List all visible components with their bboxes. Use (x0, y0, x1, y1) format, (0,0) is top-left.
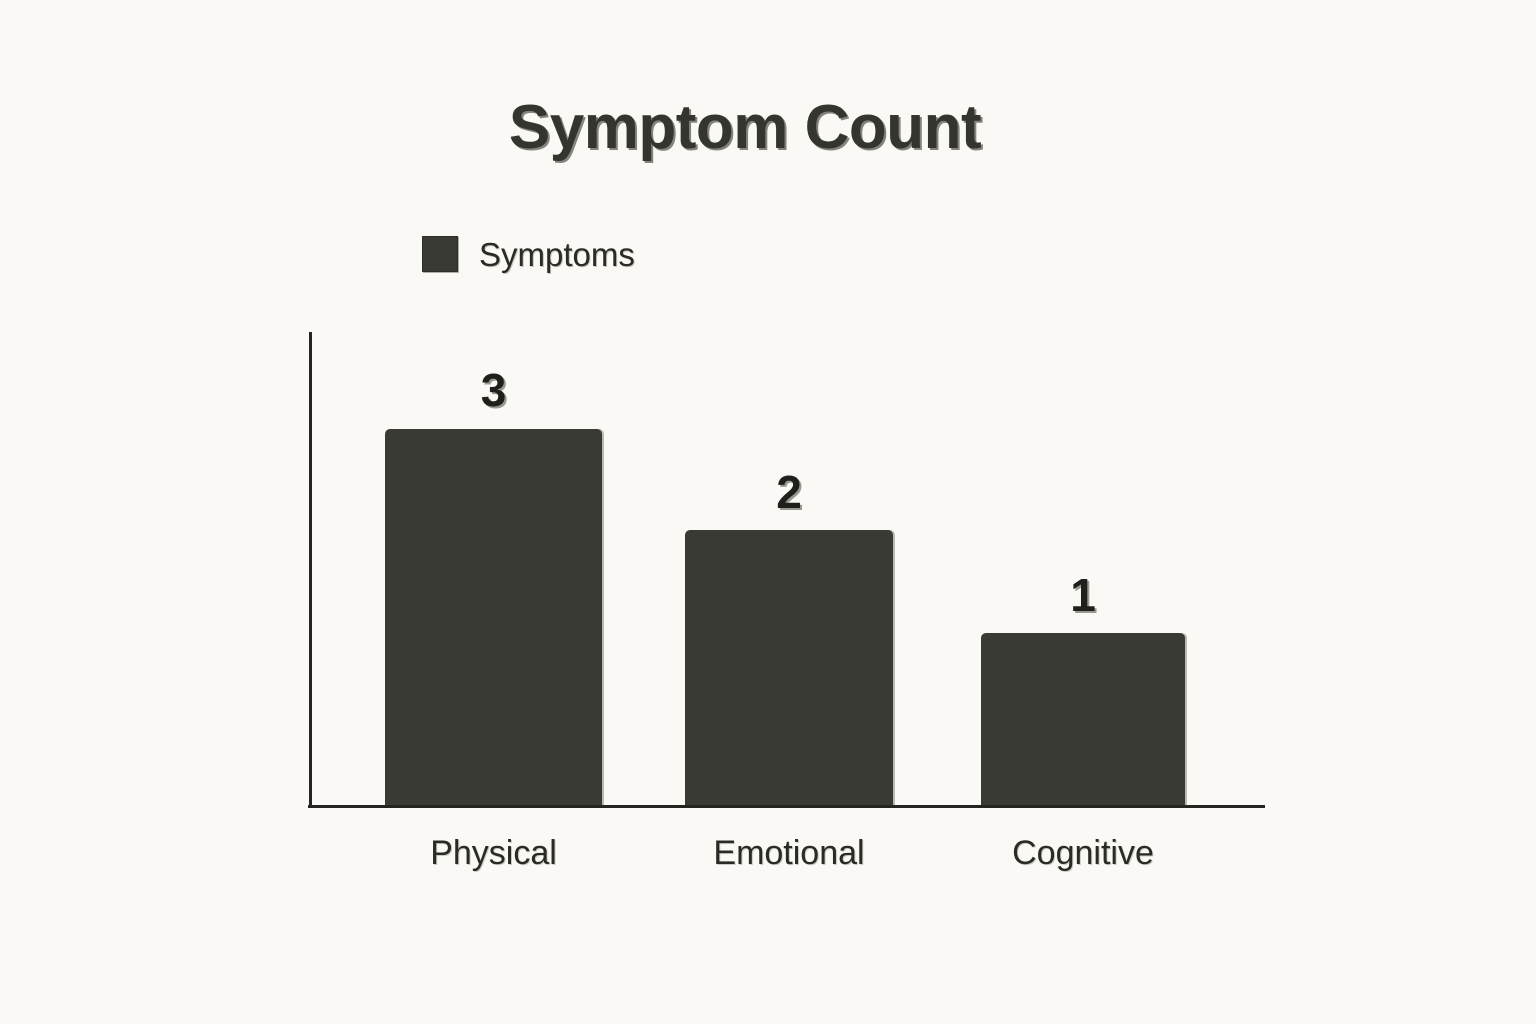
y-axis-line (309, 332, 312, 808)
bar-cognitive[interactable] (981, 633, 1185, 805)
plot-area: 3 Physical 2 Emotional 1 Cognitive (0, 0, 1536, 1024)
chart-figure: Symptom Count Symptoms 3 Physical 2 Emot… (0, 0, 1536, 1024)
x-tick-label-emotional: Emotional (685, 836, 893, 870)
bar-physical[interactable] (385, 429, 602, 805)
bar-value-cognitive: 1 (981, 572, 1185, 618)
bar-emotional[interactable] (685, 530, 893, 805)
x-axis-line (308, 805, 1265, 808)
bar-value-physical: 3 (385, 367, 602, 413)
x-tick-label-cognitive: Cognitive (981, 836, 1185, 870)
bar-value-emotional: 2 (685, 469, 893, 515)
x-tick-label-physical: Physical (385, 836, 602, 870)
